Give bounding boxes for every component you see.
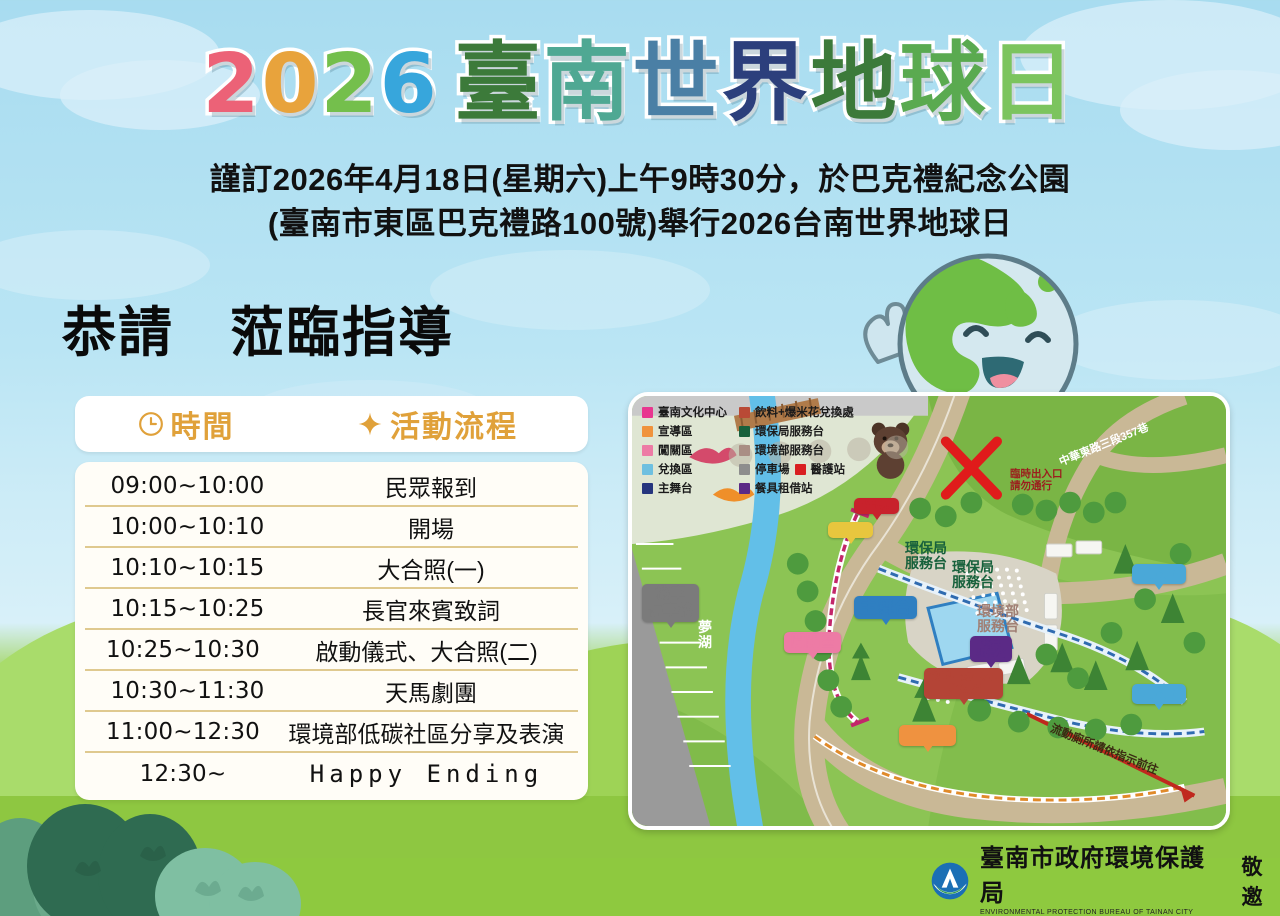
legend-entry: 餐具租借站: [739, 480, 813, 496]
title-char: 2: [321, 44, 380, 126]
legend-item: 環保局服務台: [739, 423, 854, 439]
schedule-time: 10:00~10:10: [85, 514, 290, 540]
legend-swatch: [795, 464, 806, 475]
legend-label: 醫護站: [811, 461, 846, 477]
legend-entry: 醫護站: [795, 461, 846, 477]
legend-swatch: [642, 464, 653, 475]
legend-entry: 停車場: [739, 461, 790, 477]
schedule-row: 09:00~10:00民眾報到: [85, 466, 578, 507]
invite-heading: 恭請 蒞臨指導: [62, 288, 454, 367]
legend-item: 餐具租借站: [739, 480, 854, 496]
title-char: 2: [202, 44, 261, 126]
schedule-row: 10:15~10:25長官來賓致詞: [85, 589, 578, 630]
legend-label: 飲料+爆米花兌換處: [755, 404, 854, 420]
pin-motorcycle-parking[interactable]: 機車停車格: [642, 584, 699, 622]
legend-label: 兌換區: [658, 461, 693, 477]
pin-medical-station[interactable]: 醫護站: [854, 498, 899, 514]
legend-label: 環境部服務台: [755, 442, 824, 458]
pin-exchange-zone-lower[interactable]: 兌換區: [1132, 684, 1186, 704]
epb-logo-icon: [930, 861, 970, 901]
legend-label: 臺南文化中心: [658, 404, 727, 420]
footer-invitation-word: 敬邀: [1241, 851, 1280, 911]
pin-tableware-rental[interactable]: 餐具租借站: [970, 636, 1012, 662]
event-subtitle: 謹訂2026年4月18日(星期六)上午9時30分，於巴克禮紀念公園 (臺南市東區…: [0, 158, 1280, 246]
pin-sound-desk[interactable]: 音控台: [828, 522, 873, 538]
schedule-time: 11:00~12:30: [85, 719, 281, 745]
label-epb-service-desk-a: 環保局服務台: [905, 541, 947, 572]
schedule-activity: 民眾報到: [290, 469, 578, 503]
schedule-time: 10:25~10:30: [85, 637, 281, 663]
legend-swatch: [739, 464, 750, 475]
legend-item: 闖關區: [642, 442, 727, 458]
legend-label: 主舞台: [658, 480, 693, 496]
schedule-time: 10:30~11:30: [85, 678, 290, 704]
legend-swatch: [739, 426, 750, 437]
legend-item: 飲料+爆米花兌換處: [739, 404, 854, 420]
schedule-time: 09:00~10:00: [85, 473, 290, 499]
pin-challenge-zone[interactable]: 闖關區: [784, 632, 841, 653]
legend-item: 宣導區: [642, 423, 727, 439]
schedule-activity: Happy Ending: [281, 760, 578, 788]
title-char: 地: [811, 40, 900, 126]
schedule-row: 11:00~12:30環境部低碳社區分享及表演: [85, 712, 578, 753]
footer-org-name-en: ENVIRONMENTAL PROTECTION BUREAU OF TAINA…: [980, 909, 1227, 916]
venue-map[interactable]: 臺南文化中心宣導區闖關區兌換區主舞台 飲料+爆米花兌換處環保局服務台環境部服務台…: [628, 392, 1230, 830]
schedule-table: 09:00~10:00民眾報到10:00~10:10開場10:10~10:15大…: [75, 462, 588, 800]
legend-item: 兌換區: [642, 461, 727, 477]
legend-swatch: [642, 483, 653, 494]
title-char: 6: [380, 44, 439, 126]
schedule-row: 10:00~10:10開場: [85, 507, 578, 548]
schedule-row: 10:25~10:30啟動儀式、大合照(二): [85, 630, 578, 671]
map-legend: 臺南文化中心宣導區闖關區兌換區主舞台 飲料+爆米花兌換處環保局服務台環境部服務台…: [642, 404, 942, 496]
legend-entry: 環保局服務台: [739, 423, 824, 439]
title-char: 0: [261, 44, 320, 126]
subtitle-line-2: (臺南市東區巴克禮路100號)舉行2026台南世界地球日: [0, 202, 1280, 246]
title-char: 臺: [455, 40, 544, 126]
schedule-activity: 開場: [290, 510, 578, 544]
title-char: 世: [633, 40, 722, 126]
schedule-time: 12:30~: [85, 761, 281, 787]
schedule-header-activity: 活動流程: [297, 402, 588, 446]
legend-swatch: [642, 445, 653, 456]
schedule-activity: 長官來賓致詞: [290, 592, 578, 626]
schedule-row: 12:30~Happy Ending: [85, 753, 578, 794]
time-column-label: 時間: [171, 402, 235, 446]
legend-item: 臺南文化中心: [642, 404, 727, 420]
title-char: [439, 44, 455, 126]
schedule-time: 10:10~10:15: [85, 555, 290, 581]
label-moenv-service-desk: 環境部服務台: [977, 604, 1019, 635]
legend-label: 環保局服務台: [755, 423, 824, 439]
legend-column-right: 飲料+爆米花兌換處環保局服務台環境部服務台停車場醫護站餐具租借站: [739, 404, 854, 496]
activity-column-label: 活動流程: [390, 402, 518, 446]
legend-column-left: 臺南文化中心宣導區闖關區兌換區主舞台: [642, 404, 727, 496]
legend-item: 環境部服務台: [739, 442, 854, 458]
title-char: 球: [900, 40, 989, 126]
legend-label: 餐具租借站: [755, 480, 813, 496]
legend-label: 宣導區: [658, 423, 693, 439]
pin-drink-popcorn-exchange[interactable]: 飲料+爆米花兌換處: [924, 668, 1003, 699]
sparkle-icon: [357, 411, 383, 437]
subtitle-line-1: 謹訂2026年4月18日(星期六)上午9時30分，於巴克禮紀念公園: [0, 158, 1280, 202]
pin-main-stage[interactable]: 主舞台: [854, 596, 917, 619]
schedule-header-time: 時間: [75, 402, 297, 446]
footer-organization: 臺南市政府環境保護局 ENVIRONMENTAL PROTECTION BURE…: [930, 838, 1280, 916]
schedule-time: 10:15~10:25: [85, 596, 290, 622]
label-epb-service-desk-b: 環保局服務台: [952, 560, 994, 591]
schedule-activity: 啟動儀式、大合照(二): [281, 633, 578, 667]
title-char: 日: [989, 40, 1078, 126]
schedule-header: 時間 活動流程: [75, 396, 588, 452]
pin-promotion-zone[interactable]: 宣導區: [899, 725, 956, 746]
schedule-row: 10:10~10:15大合照(一): [85, 548, 578, 589]
schedule-activity: 大合照(一): [290, 551, 578, 585]
legend-swatch: [739, 407, 750, 418]
legend-swatch: [642, 426, 653, 437]
legend-swatch: [739, 445, 750, 456]
clock-icon: [138, 411, 164, 437]
page-title: 2026 臺南世界地球日: [0, 40, 1280, 126]
closed-entrance-note: 臨時出入口請勿通行: [1010, 468, 1063, 492]
legend-item: 停車場醫護站: [739, 461, 854, 477]
schedule-row: 10:30~11:30天馬劇團: [85, 671, 578, 712]
legend-swatch: [642, 407, 653, 418]
pin-exchange-zone-upper[interactable]: 兌換區: [1132, 564, 1186, 584]
title-char: 南: [544, 40, 633, 126]
legend-swatch: [739, 483, 750, 494]
legend-item: 主舞台: [642, 480, 727, 496]
cloud-shape: [430, 250, 710, 330]
legend-entry: 環境部服務台: [739, 442, 824, 458]
schedule-activity: 天馬劇團: [290, 674, 578, 708]
legend-entry: 飲料+爆米花兌換處: [739, 404, 854, 420]
schedule-activity: 環境部低碳社區分享及表演: [281, 715, 578, 749]
title-char: 界: [722, 40, 811, 126]
legend-label: 停車場: [755, 461, 790, 477]
legend-label: 闖關區: [658, 442, 693, 458]
label-dream-lake: 夢湖: [698, 620, 712, 651]
footer-org-name: 臺南市政府環境保護局: [980, 838, 1227, 908]
